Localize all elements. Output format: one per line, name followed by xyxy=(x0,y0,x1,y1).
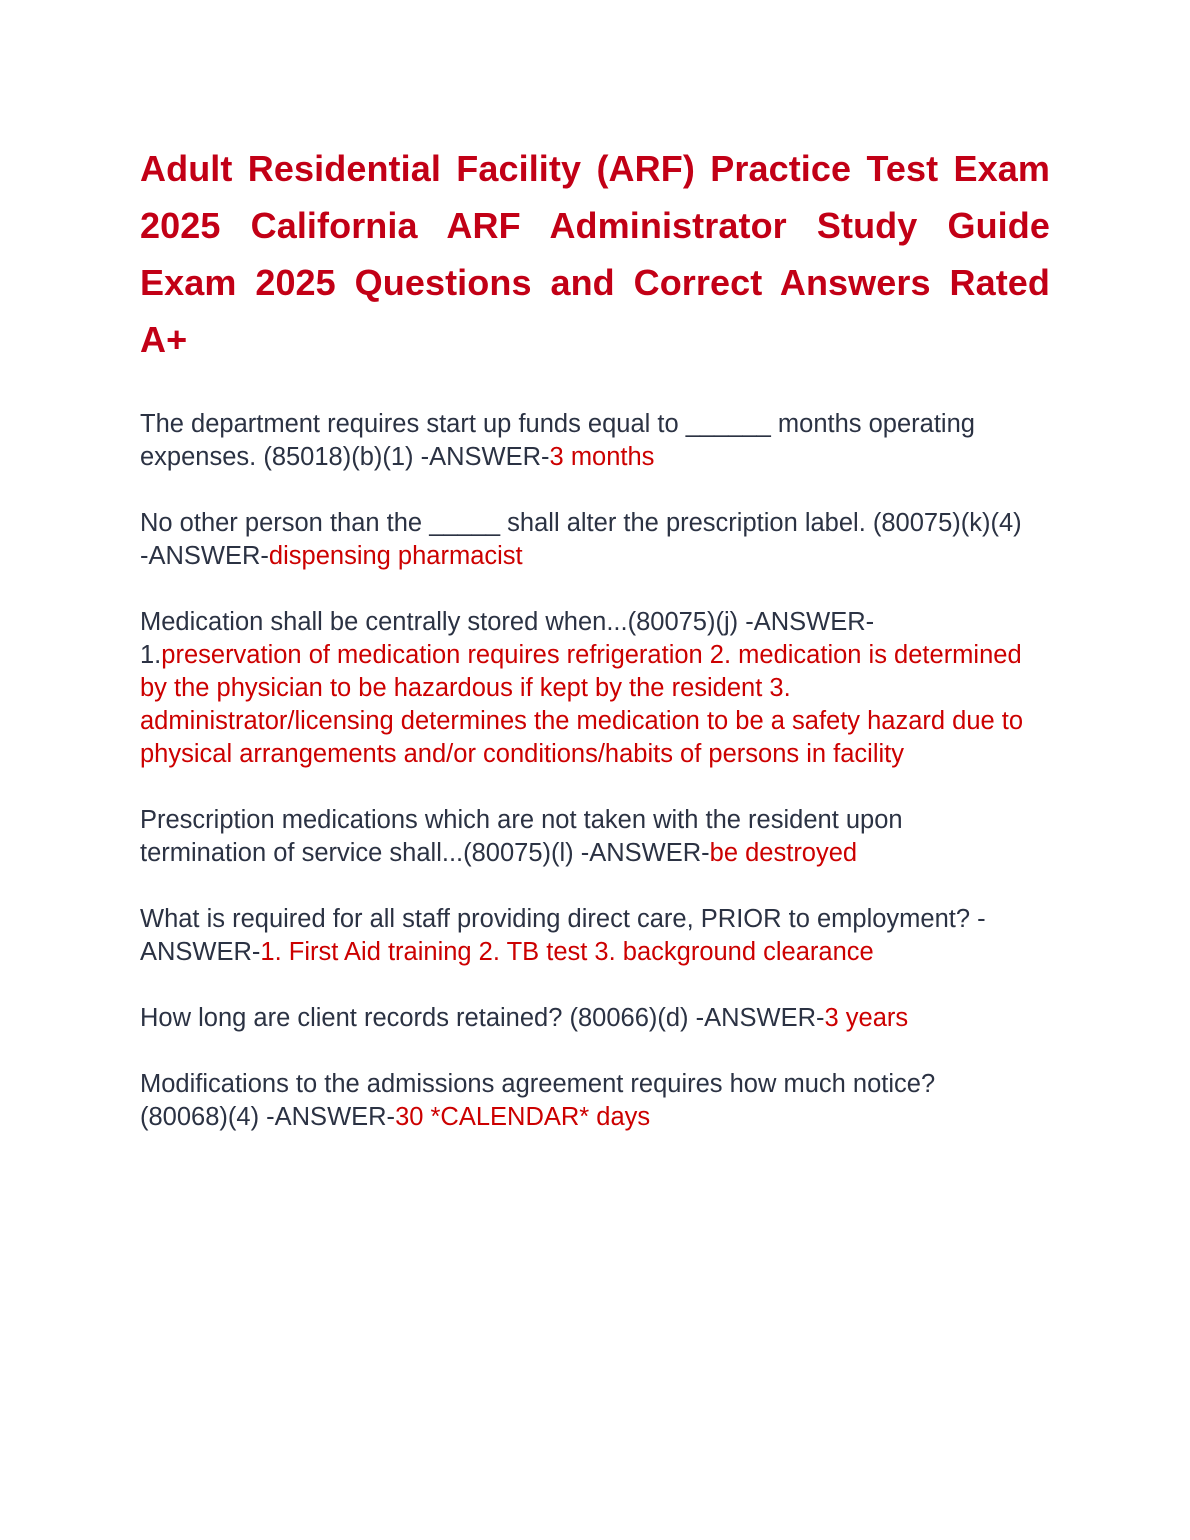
answer-text-4: be destroyed xyxy=(710,839,857,867)
qa-item-7: Modifications to the admissions agreemen… xyxy=(140,1068,1025,1134)
document-page: Adult Residential Facility (ARF) Practic… xyxy=(0,0,1190,1540)
qa-item-2: No other person than the _____ shall alt… xyxy=(140,507,1025,573)
qa-item-6: How long are client records retained? (8… xyxy=(140,1002,1025,1035)
qa-item-5: What is required for all staff providing… xyxy=(140,903,1025,969)
qa-item-3: Medication shall be centrally stored whe… xyxy=(140,606,1025,771)
answer-text-1: 3 months xyxy=(550,443,655,471)
answer-text-6: 3 years xyxy=(825,1004,909,1032)
answer-text-5: 1. First Aid training 2. TB test 3. back… xyxy=(260,938,873,966)
page-title: Adult Residential Facility (ARF) Practic… xyxy=(140,140,1050,368)
qa-item-1: The department requires start up funds e… xyxy=(140,408,1025,474)
question-text-6: How long are client records retained? (8… xyxy=(140,1004,825,1032)
answer-text-2: dispensing pharmacist xyxy=(269,542,523,570)
qa-item-4: Prescription medications which are not t… xyxy=(140,804,1025,870)
answer-text-7: 30 *CALENDAR* days xyxy=(395,1103,650,1131)
answer-text-3: preservation of medication requires refr… xyxy=(140,641,1023,768)
